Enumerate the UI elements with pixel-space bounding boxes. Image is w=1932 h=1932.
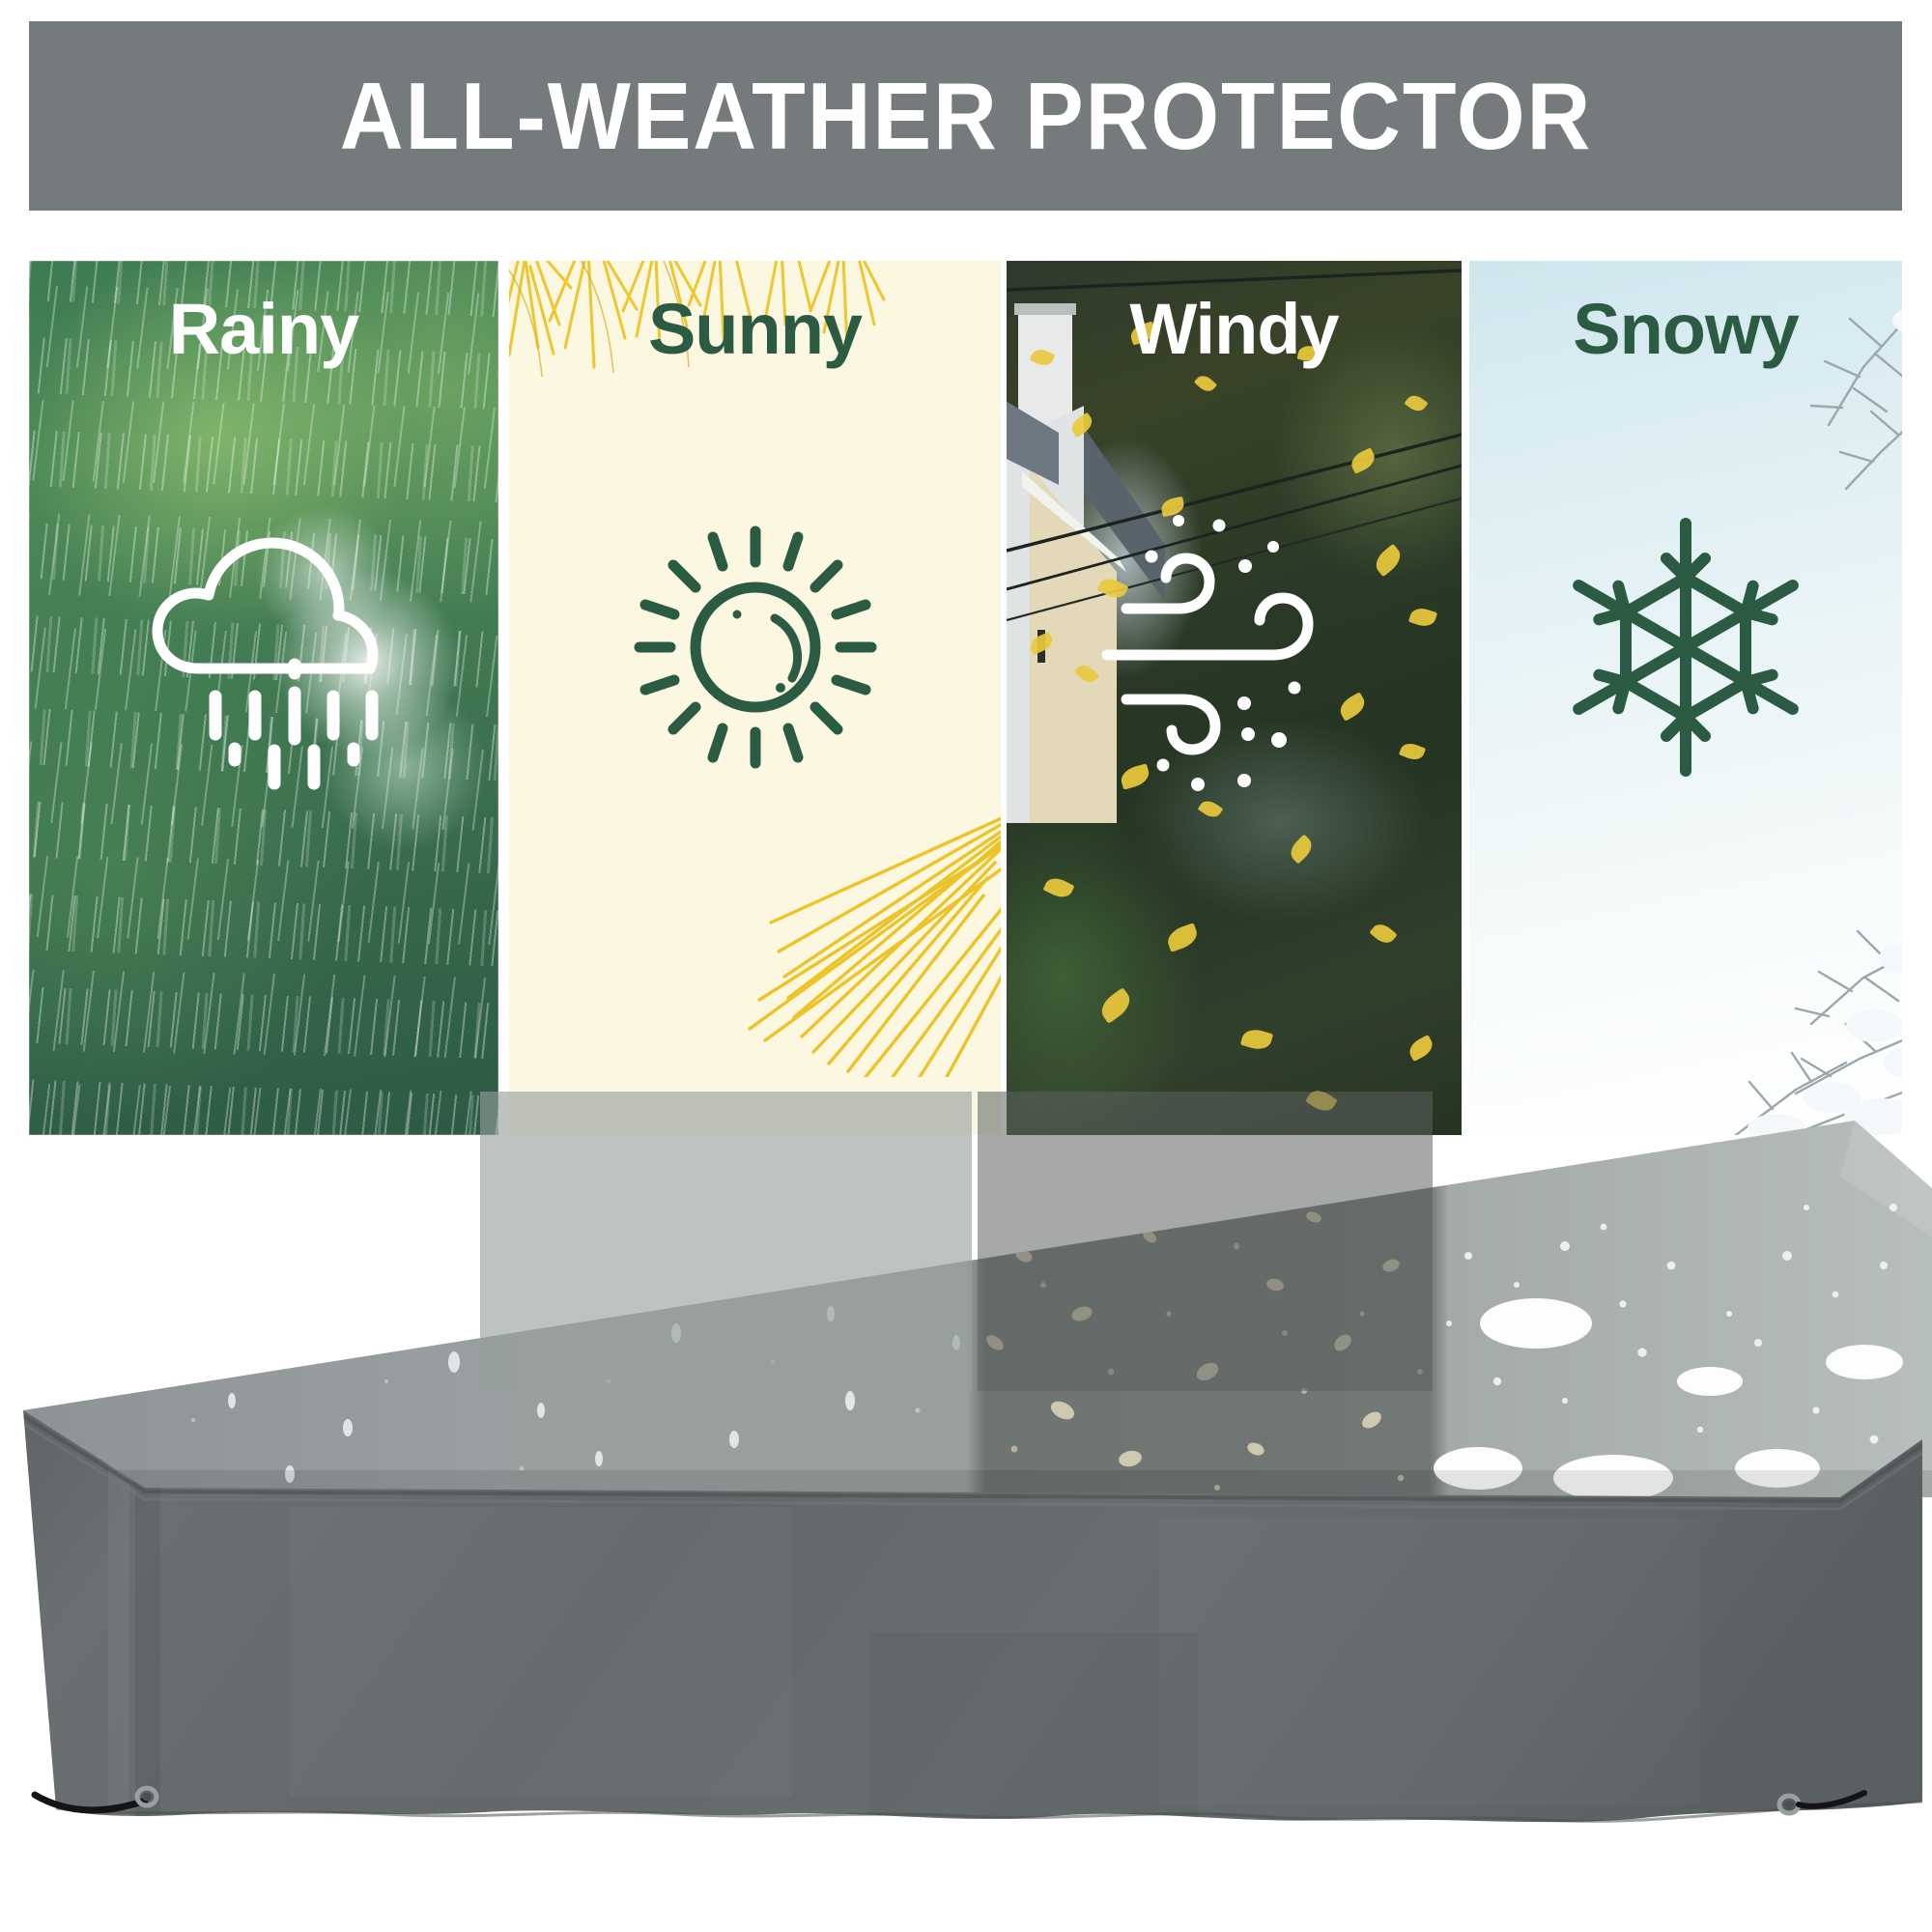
palm-frond-bottom-right-icon	[721, 758, 1001, 1077]
cover-overlay-sunny	[480, 1092, 972, 1391]
product-feature-graphic: ALL-WEATHER PROTECTOR Rainy	[0, 0, 1932, 1932]
weather-panel-strip: Rainy	[29, 261, 1902, 1135]
weather-panel-windy: Windy	[1007, 261, 1462, 1135]
weather-panel-snowy: Snowy	[1469, 261, 1902, 1135]
panel-label-rainy: Rainy	[29, 288, 498, 370]
page-title: ALL-WEATHER PROTECTOR	[339, 62, 1591, 171]
weather-panel-rainy: Rainy	[29, 261, 498, 1135]
snowflake-icon	[1541, 502, 1831, 792]
sun-icon	[611, 502, 900, 792]
cover-overlay-windy	[978, 1092, 1433, 1391]
header-banner: ALL-WEATHER PROTECTOR	[29, 21, 1902, 211]
wind-icon	[1090, 502, 1379, 792]
panel-label-windy: Windy	[1007, 288, 1462, 370]
rain-cloud-icon	[119, 507, 409, 797]
weather-panel-sunny: Sunny	[509, 261, 1001, 1135]
panel-label-sunny: Sunny	[509, 288, 1001, 370]
panel-label-snowy: Snowy	[1469, 288, 1902, 370]
